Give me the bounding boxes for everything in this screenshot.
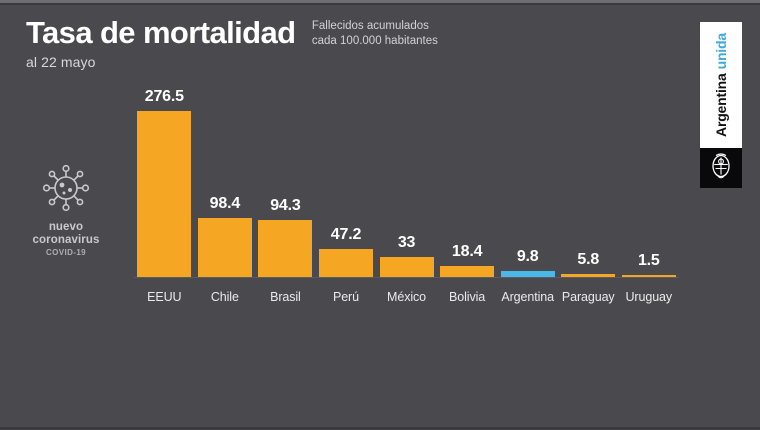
x-axis-label: Uruguay <box>619 290 680 304</box>
brand-card: Argentina unida <box>700 22 742 148</box>
bar-group: 5.8 <box>558 80 619 277</box>
page-title: Tasa de mortalidad <box>26 16 295 50</box>
brand-name-secondary: unida <box>713 33 729 69</box>
bar-value-label: 9.8 <box>517 248 539 266</box>
bar-group: 18.4 <box>437 80 498 277</box>
bar-value-label: 276.5 <box>145 88 184 106</box>
x-axis-label: Paraguay <box>558 290 619 304</box>
bar[interactable] <box>198 218 252 277</box>
bar-value-label: 5.8 <box>577 251 599 269</box>
x-axis-line <box>134 277 679 278</box>
bar-group: 98.4 <box>195 80 256 277</box>
brand-name-primary: Argentina <box>713 73 729 137</box>
x-axis-label: México <box>376 290 437 304</box>
bar-group: 94.3 <box>255 80 316 277</box>
bar-chart: 276.598.494.347.23318.49.85.81.5 EEUUChi… <box>134 80 679 310</box>
header-subtitle: Fallecidos acumulados cada 100.000 habit… <box>312 19 438 49</box>
bar-value-label: 47.2 <box>331 226 361 244</box>
header: Tasa de mortalidad Fallecidos acumulados… <box>26 16 456 70</box>
x-axis-label: EEUU <box>134 290 195 304</box>
bar[interactable] <box>380 257 434 277</box>
infographic-canvas: Tasa de mortalidad Fallecidos acumulados… <box>0 0 760 430</box>
bar-group: 9.8 <box>497 80 558 277</box>
bar[interactable] <box>440 266 494 277</box>
covid-name-line-1: nuevo <box>24 221 108 234</box>
x-axis-label: Perú <box>316 290 377 304</box>
top-border-inner <box>0 3 760 5</box>
subtitle-line-1: Fallecidos acumulados <box>312 20 429 32</box>
x-axis-label: Brasil <box>255 290 316 304</box>
covid-logo-sub: COVID-19 <box>24 248 108 257</box>
covid-logo: nuevo coronavirus COVID-19 <box>24 160 108 257</box>
bar-value-label: 18.4 <box>452 243 482 261</box>
bar-group: 1.5 <box>619 80 680 277</box>
x-axis-label: Chile <box>195 290 256 304</box>
date-label: al 22 mayo <box>26 54 456 70</box>
bar-group: 33 <box>376 80 437 277</box>
argentina-unida-brand: Argentina unida <box>700 22 742 188</box>
bar-value-label: 98.4 <box>210 195 240 213</box>
bar[interactable] <box>258 220 312 277</box>
bar-group: 276.5 <box>134 80 195 277</box>
bar-value-label: 94.3 <box>270 197 300 215</box>
x-axis-labels: EEUUChileBrasilPerúMéxicoBoliviaArgentin… <box>134 290 679 304</box>
covid-name-line-2: coronavirus <box>24 234 108 247</box>
bar-value-label: 33 <box>398 234 415 252</box>
chart-plot-area: 276.598.494.347.23318.49.85.81.5 <box>134 80 679 277</box>
brand-emblem <box>700 148 742 188</box>
subtitle-line-2: cada 100.000 habitantes <box>312 34 438 49</box>
bar-value-label: 1.5 <box>638 252 660 270</box>
x-axis-label: Bolivia <box>437 290 498 304</box>
covid-logo-name: nuevo coronavirus <box>24 221 108 246</box>
bar[interactable] <box>319 249 373 277</box>
argentina-coat-of-arms-icon <box>709 152 733 185</box>
bar[interactable] <box>137 111 191 277</box>
x-axis-label: Argentina <box>497 290 558 304</box>
bar-group: 47.2 <box>316 80 377 277</box>
coronavirus-icon <box>24 160 108 216</box>
brand-text: Argentina unida <box>700 22 742 148</box>
